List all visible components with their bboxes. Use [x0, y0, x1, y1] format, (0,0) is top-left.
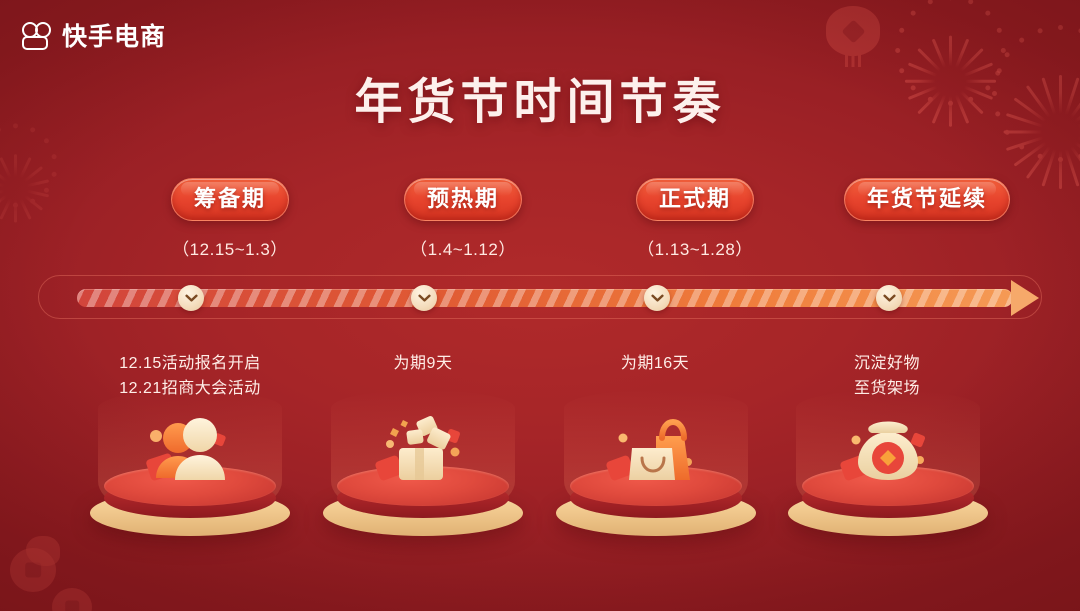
stage-header-3: 年货节延续 [807, 178, 1047, 235]
kuaishou-camera-icon [22, 22, 53, 52]
brand-logo: 快手电商 [22, 22, 166, 52]
stage-header-0: 筹备期 （12.15~1.3） [110, 178, 350, 260]
stage-date-range: （1.13~1.28） [575, 235, 815, 260]
stage-podium-3 [788, 404, 988, 536]
timeline-marker[interactable] [644, 285, 670, 311]
brand-wordmark: 快手电商 [62, 25, 166, 50]
chevron-down-icon [185, 294, 198, 303]
timeline-marker[interactable] [876, 285, 902, 311]
lantern-decoration [826, 6, 880, 56]
two-people-icon [130, 412, 250, 494]
chevron-down-icon [883, 294, 896, 303]
arrow-right-icon [1011, 280, 1039, 316]
timeline-marker[interactable] [178, 285, 204, 311]
coin-decoration [52, 588, 92, 611]
stage-pill[interactable]: 筹备期 [171, 178, 289, 221]
stage-date-range: （1.4~1.12） [343, 235, 583, 260]
stage-pill[interactable]: 年货节延续 [844, 178, 1010, 221]
chevron-down-icon [651, 294, 664, 303]
gift-box-icon [363, 412, 483, 494]
timeline-marker[interactable] [411, 285, 437, 311]
money-bag-icon [828, 412, 948, 494]
stage-pill[interactable]: 正式期 [636, 178, 754, 221]
stage-caption-1: 为期9天 [303, 352, 543, 377]
page-title: 年货节时间节奏 [0, 62, 1080, 132]
shopping-bag-icon [596, 412, 716, 494]
stage-podium-1 [323, 404, 523, 536]
timeline-progress-bar [77, 289, 1013, 307]
coin-decoration [10, 548, 56, 592]
blob-decoration [26, 536, 60, 566]
stage-header-1: 预热期 （1.4~1.12） [343, 178, 583, 260]
chevron-down-icon [418, 294, 431, 303]
stage-podium-0 [90, 404, 290, 536]
poster-canvas: 快手电商 年货节时间节奏 筹备期 （12.15~1.3） 预热期 （1.4~1.… [0, 0, 1080, 611]
stage-podium-2 [556, 404, 756, 536]
timeline-track [38, 275, 1042, 319]
stage-header-2: 正式期 （1.13~1.28） [575, 178, 815, 260]
stage-caption-2: 为期16天 [535, 352, 775, 377]
stage-date-range: （12.15~1.3） [110, 235, 350, 260]
firework-decoration [0, 120, 60, 210]
stage-pill[interactable]: 预热期 [404, 178, 522, 221]
